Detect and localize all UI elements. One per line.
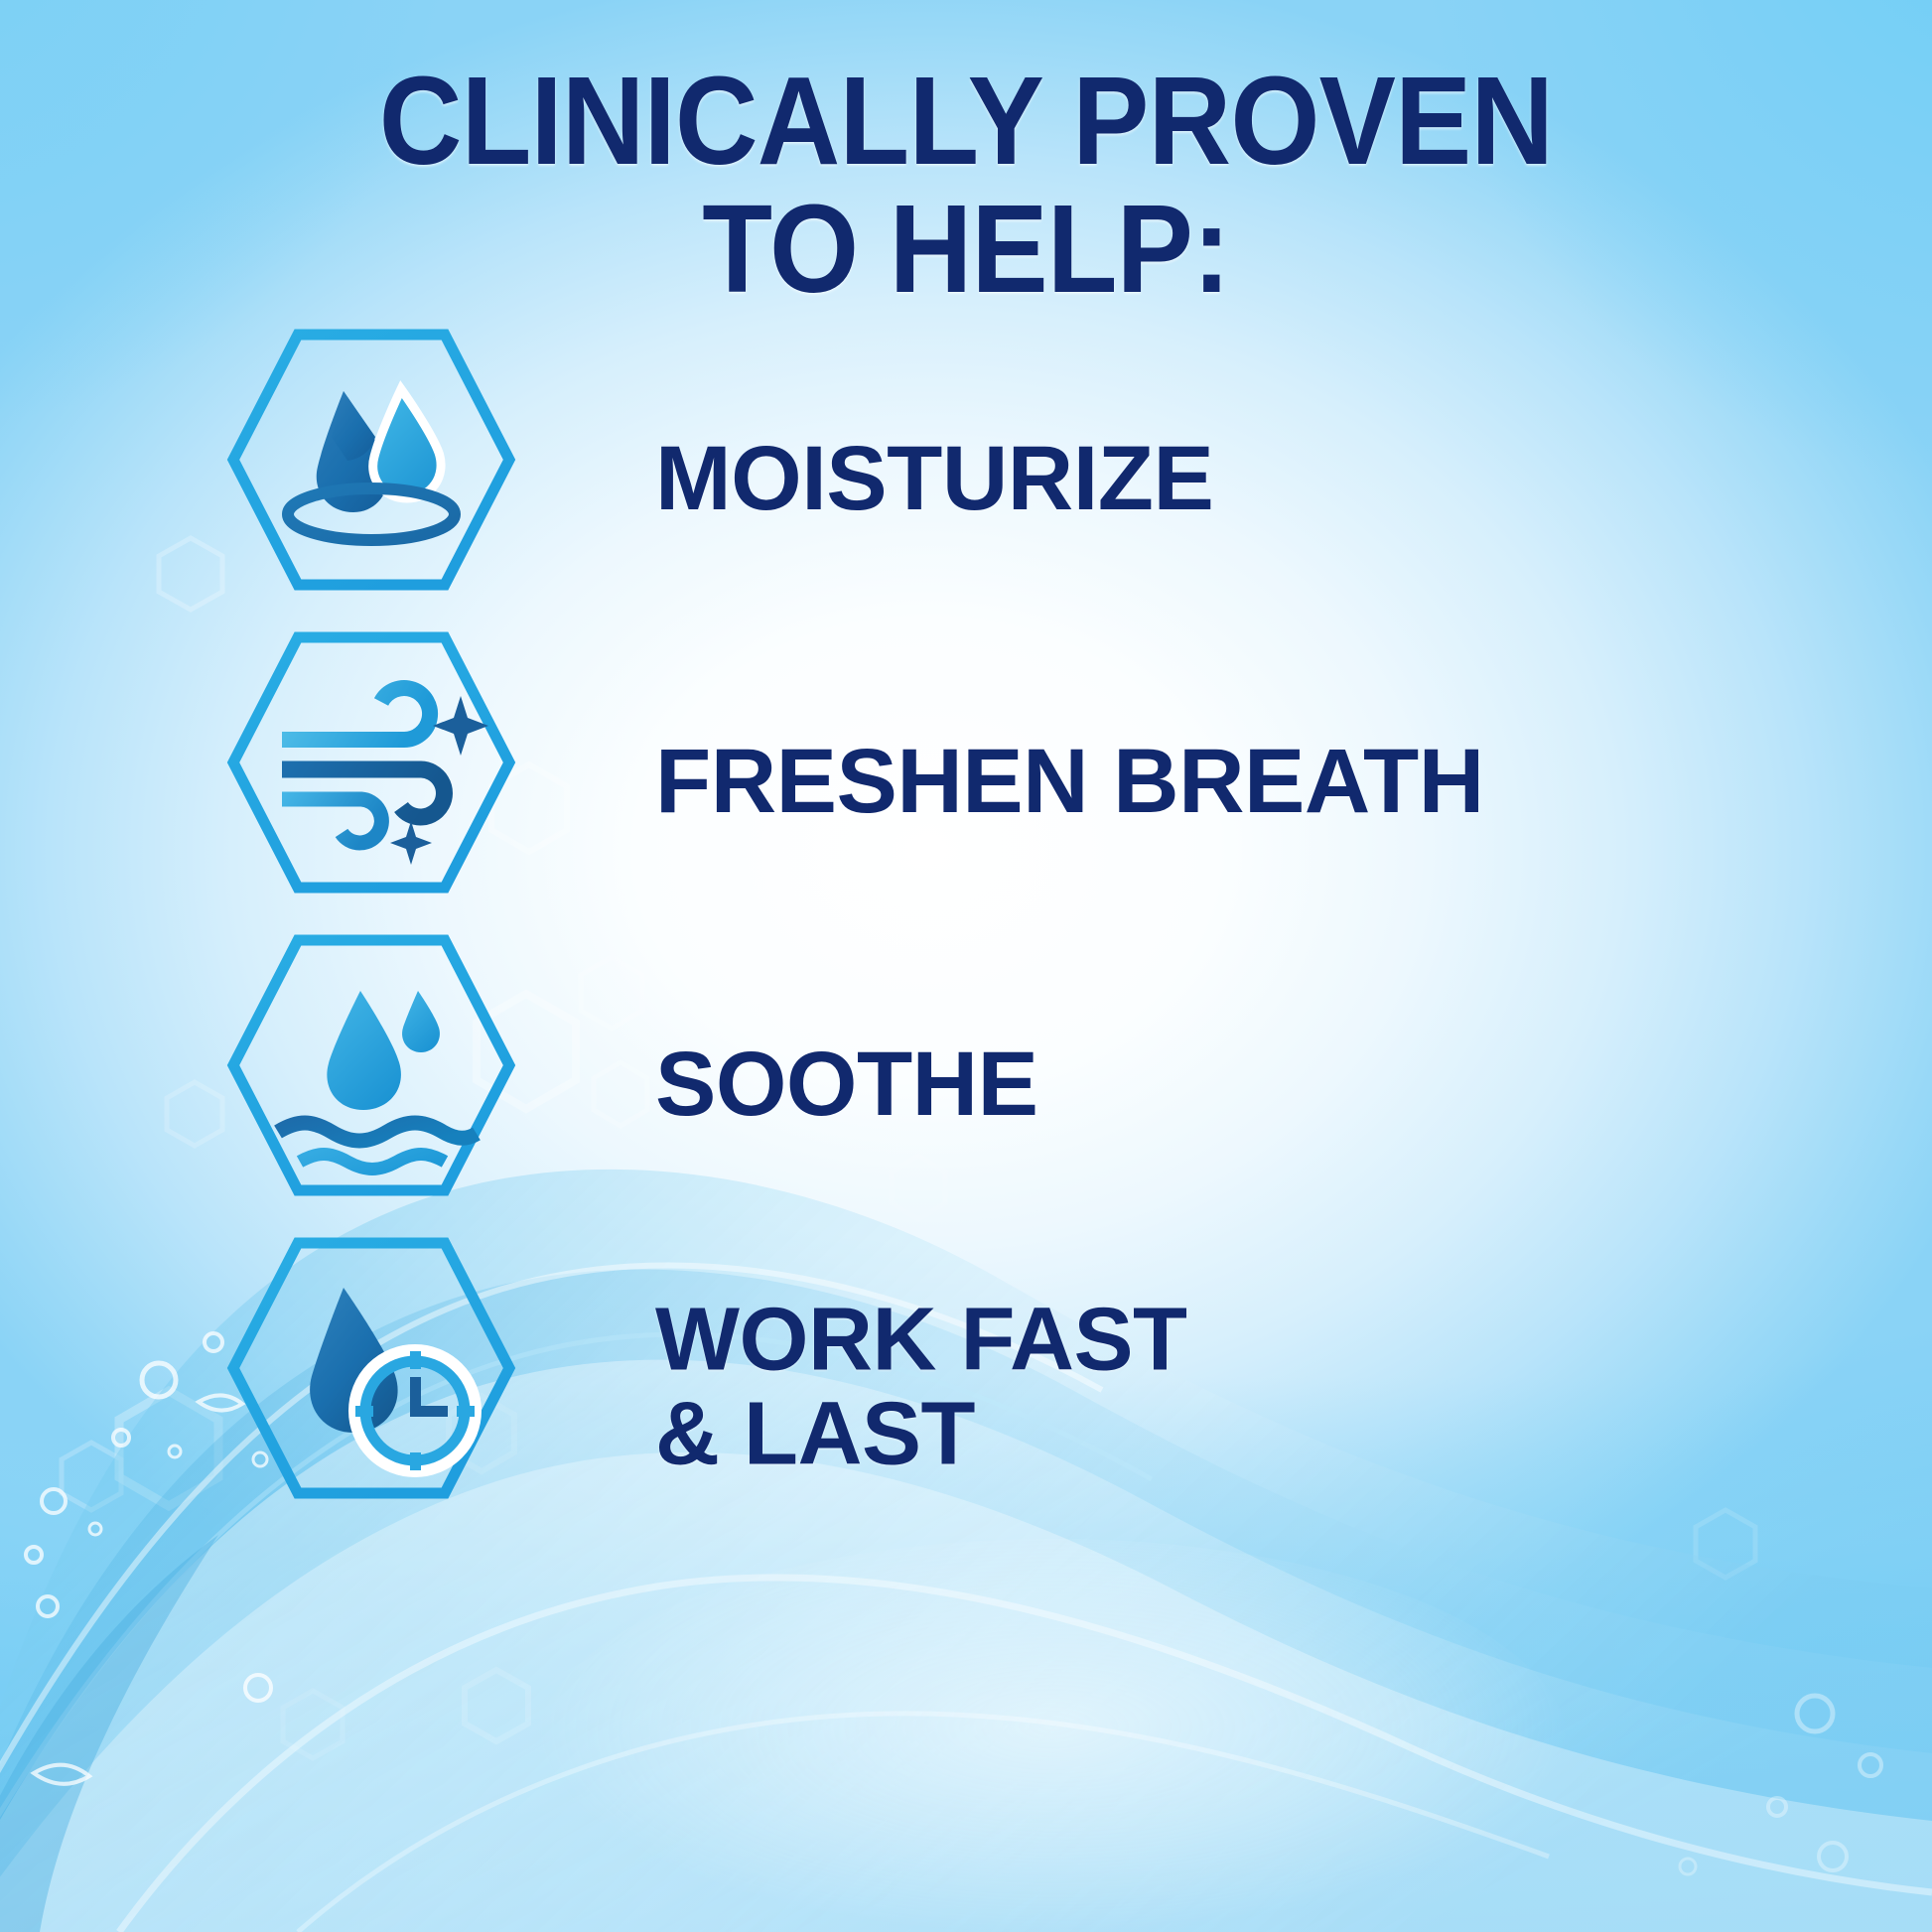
promo-graphic-canvas: CLINICALLY PROVEN TO HELP: xyxy=(0,0,1932,1932)
sparkle-icon xyxy=(390,821,432,865)
water-drop-ripple-icon xyxy=(226,328,516,592)
page-title: CLINICALLY PROVEN TO HELP: xyxy=(77,58,1855,313)
feature-label: SOOTHE xyxy=(655,1036,1037,1134)
hexagon-badge-freshen-breath xyxy=(226,630,516,895)
feature-label: MOISTURIZE xyxy=(655,431,1213,528)
hexagon-badge-soothe xyxy=(226,933,516,1197)
clock-minute-hand xyxy=(410,1406,448,1417)
droplet-clock-icon xyxy=(226,1236,516,1500)
feature-row: MOISTURIZE xyxy=(0,328,1932,630)
hexagon-badge-moisturize xyxy=(226,328,516,592)
feature-label: FRESHEN BREATH xyxy=(655,734,1484,831)
feature-row: FRESHEN BREATH xyxy=(0,630,1932,933)
hexagon-badge-work-fast-and-last xyxy=(226,1236,516,1500)
feature-row: SOOTHE xyxy=(0,933,1932,1236)
feature-row: WORK FAST & LAST xyxy=(0,1236,1932,1539)
feature-label: WORK FAST & LAST xyxy=(655,1293,1186,1482)
wind-sparkle-icon xyxy=(226,630,516,895)
feature-list: MOISTURIZE xyxy=(0,328,1932,1539)
droplet-waves-icon xyxy=(226,933,516,1197)
